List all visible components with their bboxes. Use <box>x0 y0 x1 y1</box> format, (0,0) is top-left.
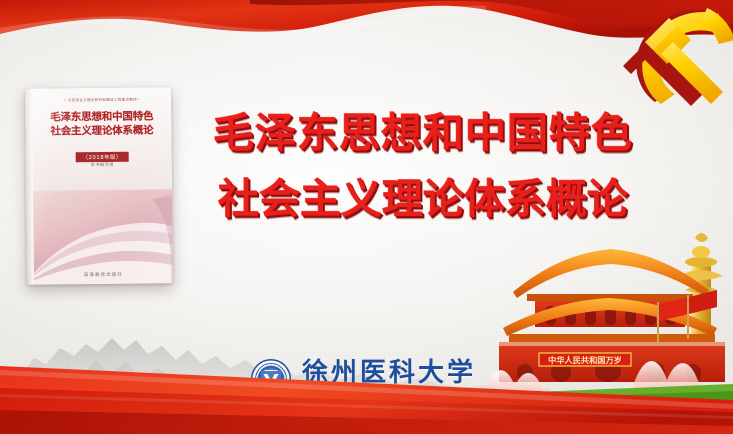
hammer-and-sickle-icon <box>611 0 733 116</box>
textbook-cover-image: 马克思主义理论研究和建设工程重点教材 毛泽东思想和中国特色 社会主义理论体系概论… <box>25 87 173 285</box>
book-cover-artwork: 高等教育出版社 <box>33 189 173 285</box>
tiananmen-banner-text: 中华人民共和国万岁 <box>548 355 622 365</box>
slide-title: 毛泽东思想和中国特色 社会主义理论体系概论 <box>192 100 654 232</box>
book-title-line-2: 社会主义理论体系概论 <box>37 123 166 138</box>
presentation-slide: 中华人民共和国万岁 马克思主义理论研究和建设工程重点教材 毛泽东思想和中国特色 <box>0 0 733 434</box>
university-name-cn: 徐州医科大学 <box>302 359 498 387</box>
slide-title-line-2: 社会主义理论体系概论 <box>192 166 654 232</box>
book-cover-top: 马克思主义理论研究和建设工程重点教材 毛泽东思想和中国特色 社会主义理论体系概论… <box>32 87 172 190</box>
book-series-label: 马克思主义理论研究和建设工程重点教材 <box>40 97 163 103</box>
book-title-line-1: 毛泽东思想和中国特色 <box>37 109 166 124</box>
university-name-en: XUZHOU MEDICAL UNIVERSITY <box>302 388 498 400</box>
book-title: 毛泽东思想和中国特色 社会主义理论体系概论 <box>37 109 166 138</box>
university-lockup: 徐州医科大学 XUZHOU MEDICAL UNIVERSITY <box>250 358 498 400</box>
book-edition-label: （2018年版） <box>76 152 129 163</box>
tiananmen-gate-illustration: 中华人民共和国万岁 <box>483 216 733 416</box>
book-author-label: 本书编写组 <box>33 161 172 168</box>
slide-title-line-1: 毛泽东思想和中国特色 <box>192 100 654 166</box>
xuzhou-medical-university-seal-icon <box>250 358 292 400</box>
